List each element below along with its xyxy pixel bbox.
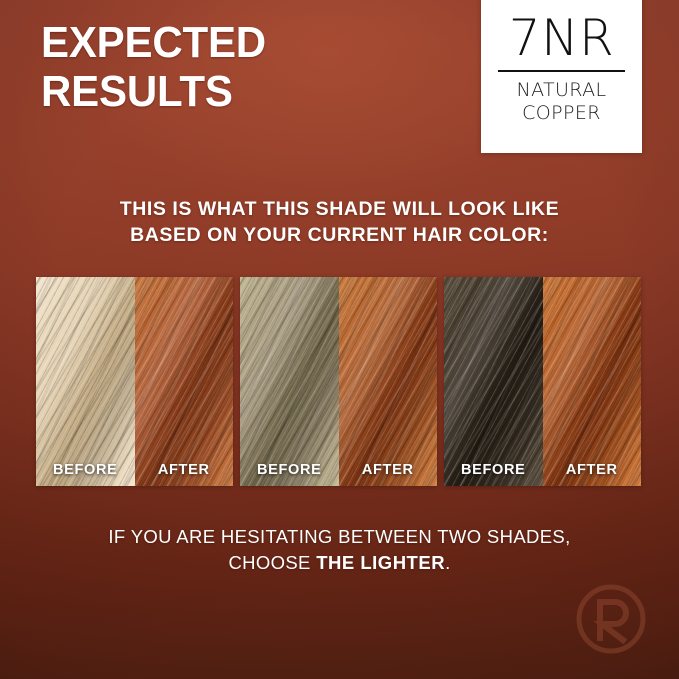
swatch-label-before: BEFORE [444, 462, 543, 478]
shade-name: NATURAL COPPER [516, 79, 606, 125]
page-title: EXPECTED RESULTS [41, 18, 442, 116]
footer-note: IF YOU ARE HESITATING BETWEEN TWO SHADES… [0, 524, 679, 576]
swatch-pair-dark-brown: BEFORE AFTER [444, 277, 641, 486]
hair-sheen [339, 277, 438, 486]
footer-note-line1: IF YOU ARE HESITATING BETWEEN TWO SHADES… [0, 524, 679, 550]
swatch-label-after: AFTER [543, 462, 642, 478]
hair-sheen [135, 277, 234, 486]
swatch-before-medium-ash-blonde: BEFORE [240, 277, 339, 486]
footer-note-line2: CHOOSE THE LIGHTER. [0, 550, 679, 576]
swatch-label-after: AFTER [135, 462, 234, 478]
hair-sheen [36, 277, 135, 486]
swatch-after-dark-brown: AFTER [543, 277, 642, 486]
expected-results-panel: EXPECTED RESULTS 7NR NATURAL COPPER THIS… [0, 0, 679, 679]
badge-divider [498, 70, 625, 72]
subtitle-text: THIS IS WHAT THIS SHADE WILL LOOK LIKE B… [0, 196, 679, 248]
swatch-comparison-row: BEFORE AFTER BEFORE AFTER [36, 277, 641, 486]
swatch-pair-medium-ash-blonde: BEFORE AFTER [240, 277, 437, 486]
shade-code: 7NR [509, 10, 614, 66]
hair-sheen [543, 277, 642, 486]
circle-r-logo-icon [575, 583, 647, 655]
hair-sheen [444, 277, 543, 486]
swatch-after-medium-ash-blonde: AFTER [339, 277, 438, 486]
swatch-label-before: BEFORE [36, 462, 135, 478]
swatch-before-dark-brown: BEFORE [444, 277, 543, 486]
footer-note-prefix: CHOOSE [228, 552, 316, 573]
footer-note-suffix: . [445, 552, 451, 573]
swatch-label-before: BEFORE [240, 462, 339, 478]
swatch-after-light-blonde: AFTER [135, 277, 234, 486]
swatch-pair-light-blonde: BEFORE AFTER [36, 277, 233, 486]
hair-sheen [240, 277, 339, 486]
swatch-label-after: AFTER [339, 462, 438, 478]
footer-note-emphasis: THE LIGHTER [316, 552, 445, 573]
swatch-before-light-blonde: BEFORE [36, 277, 135, 486]
shade-badge: 7NR NATURAL COPPER [481, 0, 642, 153]
